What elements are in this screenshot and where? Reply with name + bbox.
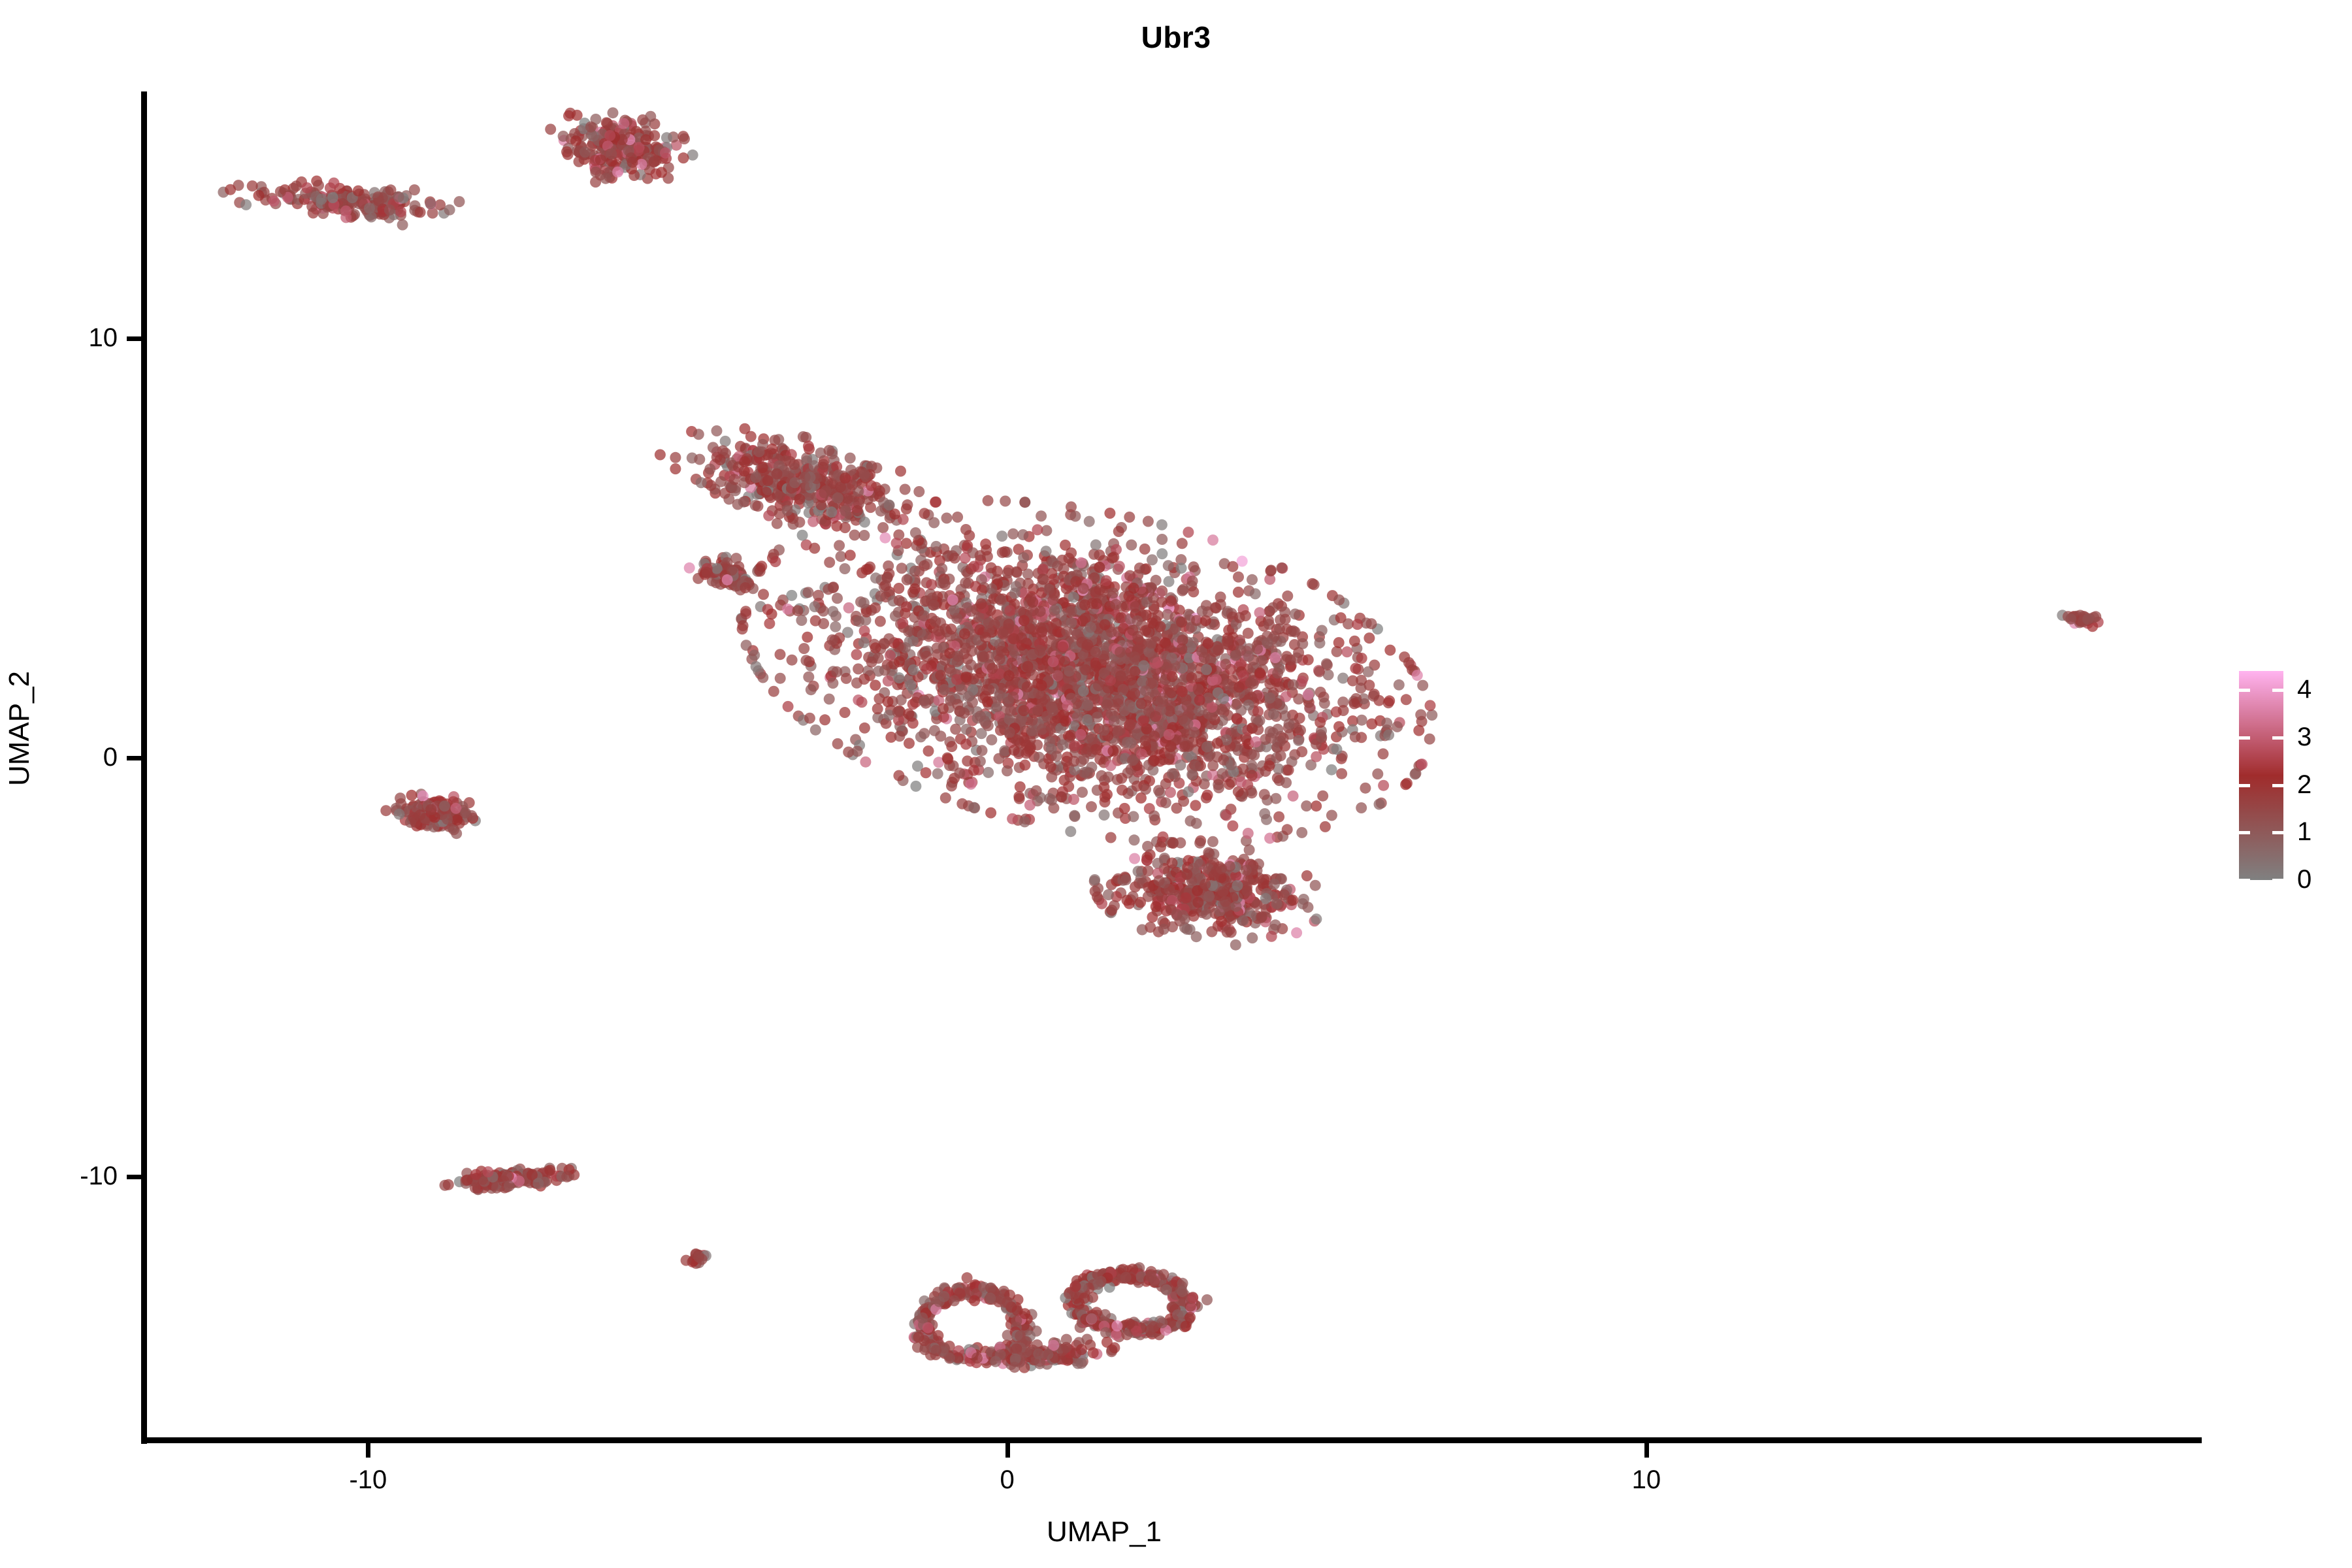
colorbar-tick-mark (2272, 831, 2283, 834)
figure-root: Ubr3 -10010 -10010 UMAP_1 UMAP_2 01234 (0, 0, 2352, 1568)
colorbar-tick-mark (2239, 736, 2250, 740)
x-axis-title: UMAP_1 (0, 1516, 2208, 1548)
colorbar-tick-label: 0 (2297, 866, 2311, 892)
colorbar-tick-mark (2239, 689, 2250, 692)
colorbar-tick-mark (2239, 879, 2250, 882)
y-tick-mark (127, 1175, 141, 1179)
x-tick-label: 10 (1581, 1467, 1712, 1493)
y-axis-title: UMAP_2 (3, 532, 36, 924)
colorbar-legend[interactable] (2239, 671, 2283, 880)
colorbar-tick-label: 1 (2297, 819, 2311, 845)
colorbar-tick-label: 3 (2297, 724, 2311, 750)
colorbar-tick-mark (2272, 689, 2283, 692)
page-title: Ubr3 (0, 20, 2352, 55)
y-tick-label: -10 (20, 1163, 118, 1189)
plot-panel[interactable] (144, 91, 2202, 1441)
x-tick-label: 0 (942, 1467, 1073, 1493)
x-tick-mark (1005, 1443, 1010, 1458)
colorbar-tick-mark (2272, 784, 2283, 787)
colorbar-tick-label: 4 (2297, 676, 2311, 702)
colorbar-tick-mark (2272, 736, 2283, 740)
y-axis-line (141, 91, 147, 1444)
x-axis-line (141, 1437, 2202, 1443)
colorbar-tick-mark (2239, 831, 2250, 834)
x-tick-mark (1644, 1443, 1649, 1458)
x-tick-label: -10 (302, 1467, 433, 1493)
y-tick-mark (127, 756, 141, 760)
colorbar-tick-mark (2272, 879, 2283, 882)
colorbar-tick-label: 2 (2297, 772, 2311, 798)
x-tick-mark (366, 1443, 370, 1458)
y-tick-label: 10 (20, 325, 118, 351)
colorbar-tick-mark (2239, 784, 2250, 787)
colorbar-gradient (2239, 671, 2283, 880)
scatter-points-layer (144, 91, 2202, 1441)
y-tick-mark (127, 336, 141, 341)
